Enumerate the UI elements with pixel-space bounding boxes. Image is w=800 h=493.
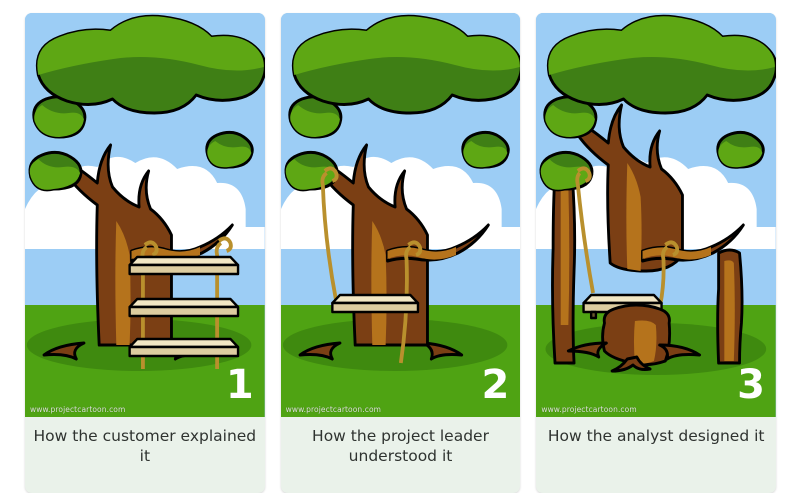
watermark-2: www.projectcartoon.com — [286, 405, 381, 414]
plank-bottom — [130, 339, 238, 356]
comic-panel-2[interactable]: www.projectcartoon.com 2 How the project… — [281, 13, 521, 493]
comic-panel-1[interactable]: www.projectcartoon.com 1 How the custome… — [25, 13, 265, 493]
panel-number-3: 3 — [737, 365, 764, 405]
tree-swing-drawing-1 — [25, 13, 265, 417]
panel-number-2: 2 — [482, 365, 509, 405]
plank-middle — [130, 299, 238, 316]
panel-caption-2: How the project leader understood it — [281, 417, 521, 493]
panel-caption-1: How the customer explained it — [25, 417, 265, 493]
scene-illustration-2: www.projectcartoon.com 2 — [281, 13, 521, 417]
scene-illustration-1: www.projectcartoon.com 1 — [25, 13, 265, 417]
panel-number-1: 1 — [226, 365, 253, 405]
comic-panel-3[interactable]: www.projectcartoon.com 3 How the analyst… — [536, 13, 776, 493]
support-branch-right — [718, 250, 742, 363]
watermark-3: www.projectcartoon.com — [541, 405, 636, 414]
support-branch-left — [553, 171, 575, 363]
comic-strip: www.projectcartoon.com 1 How the custome… — [0, 0, 800, 493]
swing-plank — [332, 295, 418, 312]
swing-planks — [130, 257, 238, 356]
watermark-1: www.projectcartoon.com — [30, 405, 125, 414]
tree-swing-drawing-2 — [281, 13, 521, 417]
plank-top — [130, 257, 238, 274]
panel-caption-3: How the analyst designed it — [536, 417, 776, 493]
tree-swing-drawing-3 — [536, 13, 776, 417]
scene-illustration-3: www.projectcartoon.com 3 — [536, 13, 776, 417]
